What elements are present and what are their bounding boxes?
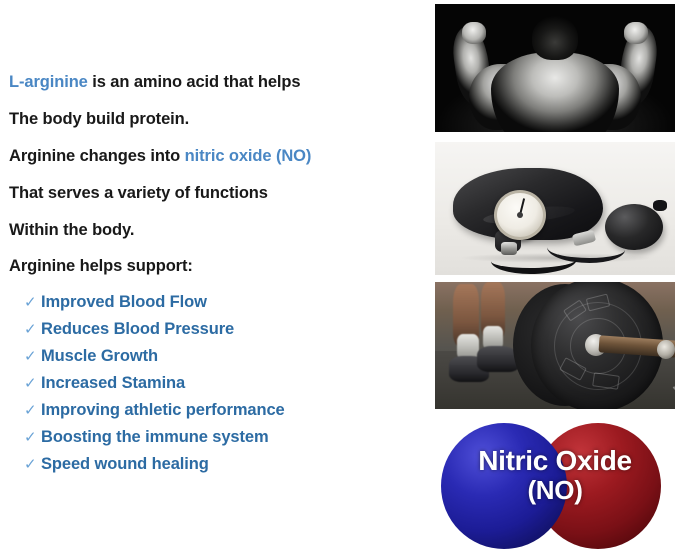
check-icon: ✓	[24, 370, 41, 397]
nitric-oxide-molecule-graphic: Nitric Oxide (NO)	[435, 421, 675, 554]
benefits-list: ✓Improved Blood Flow ✓Reduces Blood Pres…	[24, 289, 285, 478]
muscular-back-flexing-photo	[435, 4, 675, 132]
infographic-page: L-arginine is an amino acid that helps T…	[0, 0, 679, 554]
benefit-label: Reduces Blood Pressure	[41, 320, 234, 338]
term-nitric-oxide: nitric oxide (NO)	[185, 147, 312, 165]
blood-pressure-cuff-photo	[435, 142, 675, 275]
left-fist-shape	[462, 22, 486, 44]
body-line-1-rest: is an amino acid that helps	[88, 73, 301, 91]
right-fist-shape	[624, 22, 648, 44]
check-icon: ✓	[24, 397, 41, 424]
body-line-3: Arginine changes into nitric oxide (NO)	[9, 147, 311, 166]
back-torso-shape	[491, 52, 619, 132]
term-l-arginine: L-arginine	[9, 73, 88, 91]
check-icon: ✓	[24, 316, 41, 343]
body-line-5: Within the body.	[9, 221, 134, 240]
benefit-label: Speed wound healing	[41, 455, 209, 473]
body-line-6: Arginine helps support:	[9, 257, 193, 276]
nitric-oxide-label-line2: (NO)	[435, 476, 675, 505]
bulb-tip	[653, 200, 667, 211]
gauge-hub	[517, 212, 523, 218]
body-line-1: L-arginine is an amino acid that helps	[9, 73, 300, 92]
body-line-2: The body build protein.	[9, 110, 189, 129]
list-item: ✓Improving athletic performance	[24, 397, 285, 424]
benefit-label: Boosting the immune system	[41, 428, 269, 446]
list-item: ✓Speed wound healing	[24, 451, 285, 478]
barbell-weight-plate-photo	[435, 282, 675, 409]
check-icon: ✓	[24, 424, 41, 451]
nitric-oxide-label: Nitric Oxide (NO)	[435, 445, 675, 505]
list-item: ✓Muscle Growth	[24, 343, 285, 370]
benefit-label: Improved Blood Flow	[41, 293, 207, 311]
nitric-oxide-label-line1: Nitric Oxide	[435, 445, 675, 476]
text-column: L-arginine is an amino acid that helps T…	[0, 0, 425, 554]
benefit-label: Increased Stamina	[41, 374, 185, 392]
check-icon: ✓	[24, 289, 41, 316]
body-line-3-lead: Arginine changes into	[9, 147, 185, 165]
head-shape	[532, 16, 578, 60]
body-line-4: That serves a variety of functions	[9, 184, 268, 203]
list-item: ✓Improved Blood Flow	[24, 289, 285, 316]
list-item: ✓Increased Stamina	[24, 370, 285, 397]
list-item: ✓Reduces Blood Pressure	[24, 316, 285, 343]
check-icon: ✓	[24, 343, 41, 370]
benefit-label: Muscle Growth	[41, 347, 158, 365]
benefit-label: Improving athletic performance	[41, 401, 285, 419]
check-icon: ✓	[24, 451, 41, 478]
image-column: Nitric Oxide (NO)	[435, 0, 679, 554]
list-item: ✓Boosting the immune system	[24, 424, 285, 451]
pressure-gauge-dial	[494, 190, 546, 240]
